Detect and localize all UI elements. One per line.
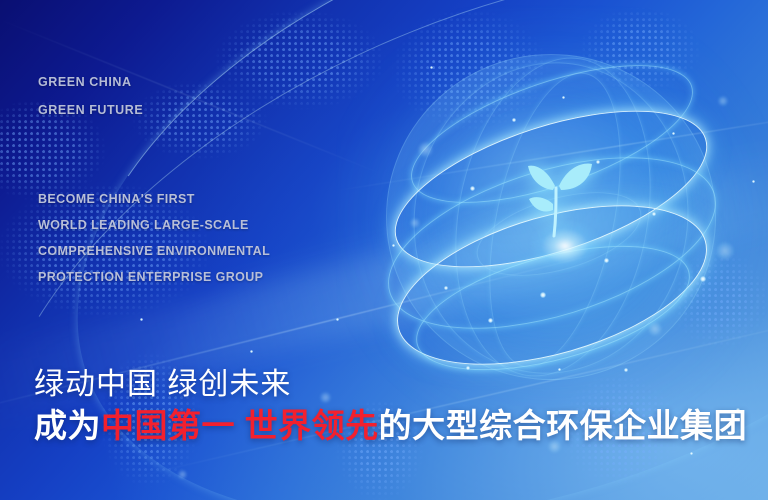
mission-line-4: PROTECTION ENTERPRISE GROUP	[38, 264, 270, 290]
headline-prefix: 成为	[34, 407, 101, 444]
light-particle	[562, 96, 565, 99]
bokeh-particle	[716, 242, 734, 260]
mission-line-2: WORLD LEADING LARGE-SCALE	[38, 212, 270, 238]
light-particle	[392, 244, 395, 247]
light-particle	[752, 180, 755, 183]
english-mission-statement: BECOME CHINA'S FIRST WORLD LEADING LARGE…	[38, 186, 270, 290]
light-particle	[140, 318, 143, 321]
mission-line-1: BECOME CHINA'S FIRST	[38, 186, 270, 212]
english-tagline: GREEN CHINA GREEN FUTURE	[38, 68, 143, 124]
bokeh-particle	[648, 322, 662, 336]
mission-line-3: COMPREHENSIVE ENVIRONMENTAL	[38, 238, 270, 264]
light-particle	[672, 132, 675, 135]
headline-highlight: 中国第一 世界领先	[101, 407, 379, 444]
light-particle	[604, 258, 609, 263]
light-particle	[512, 118, 516, 122]
light-particle	[690, 452, 693, 455]
light-particle	[700, 276, 706, 282]
light-particle	[652, 212, 656, 216]
light-particle	[430, 66, 433, 69]
light-particle	[540, 292, 546, 298]
light-particle	[488, 318, 493, 323]
chinese-headline-line-1: 绿动中国 绿创未来	[34, 366, 747, 404]
tagline-line-1: GREEN CHINA	[38, 68, 143, 96]
light-particle	[336, 318, 339, 321]
light-particle	[470, 186, 475, 191]
chinese-headline-line-2: 成为中国第一 世界领先的大型综合环保企业集团	[34, 404, 747, 448]
sprout-seedling-icon	[520, 152, 594, 244]
chinese-headline: 绿动中国 绿创未来 成为中国第一 世界领先的大型综合环保企业集团	[34, 366, 747, 448]
bokeh-particle	[410, 218, 420, 228]
bokeh-particle	[178, 470, 187, 479]
hero-banner: GREEN CHINA GREEN FUTURE BECOME CHINA'S …	[0, 0, 768, 500]
headline-suffix: 的大型综合环保企业集团	[379, 407, 748, 444]
wireframe-globe	[378, 48, 728, 388]
light-particle	[250, 350, 253, 353]
bokeh-particle	[718, 96, 728, 106]
light-particle	[596, 160, 600, 164]
light-particle	[444, 286, 448, 290]
bokeh-particle	[418, 142, 433, 157]
tagline-line-2: GREEN FUTURE	[38, 96, 143, 124]
